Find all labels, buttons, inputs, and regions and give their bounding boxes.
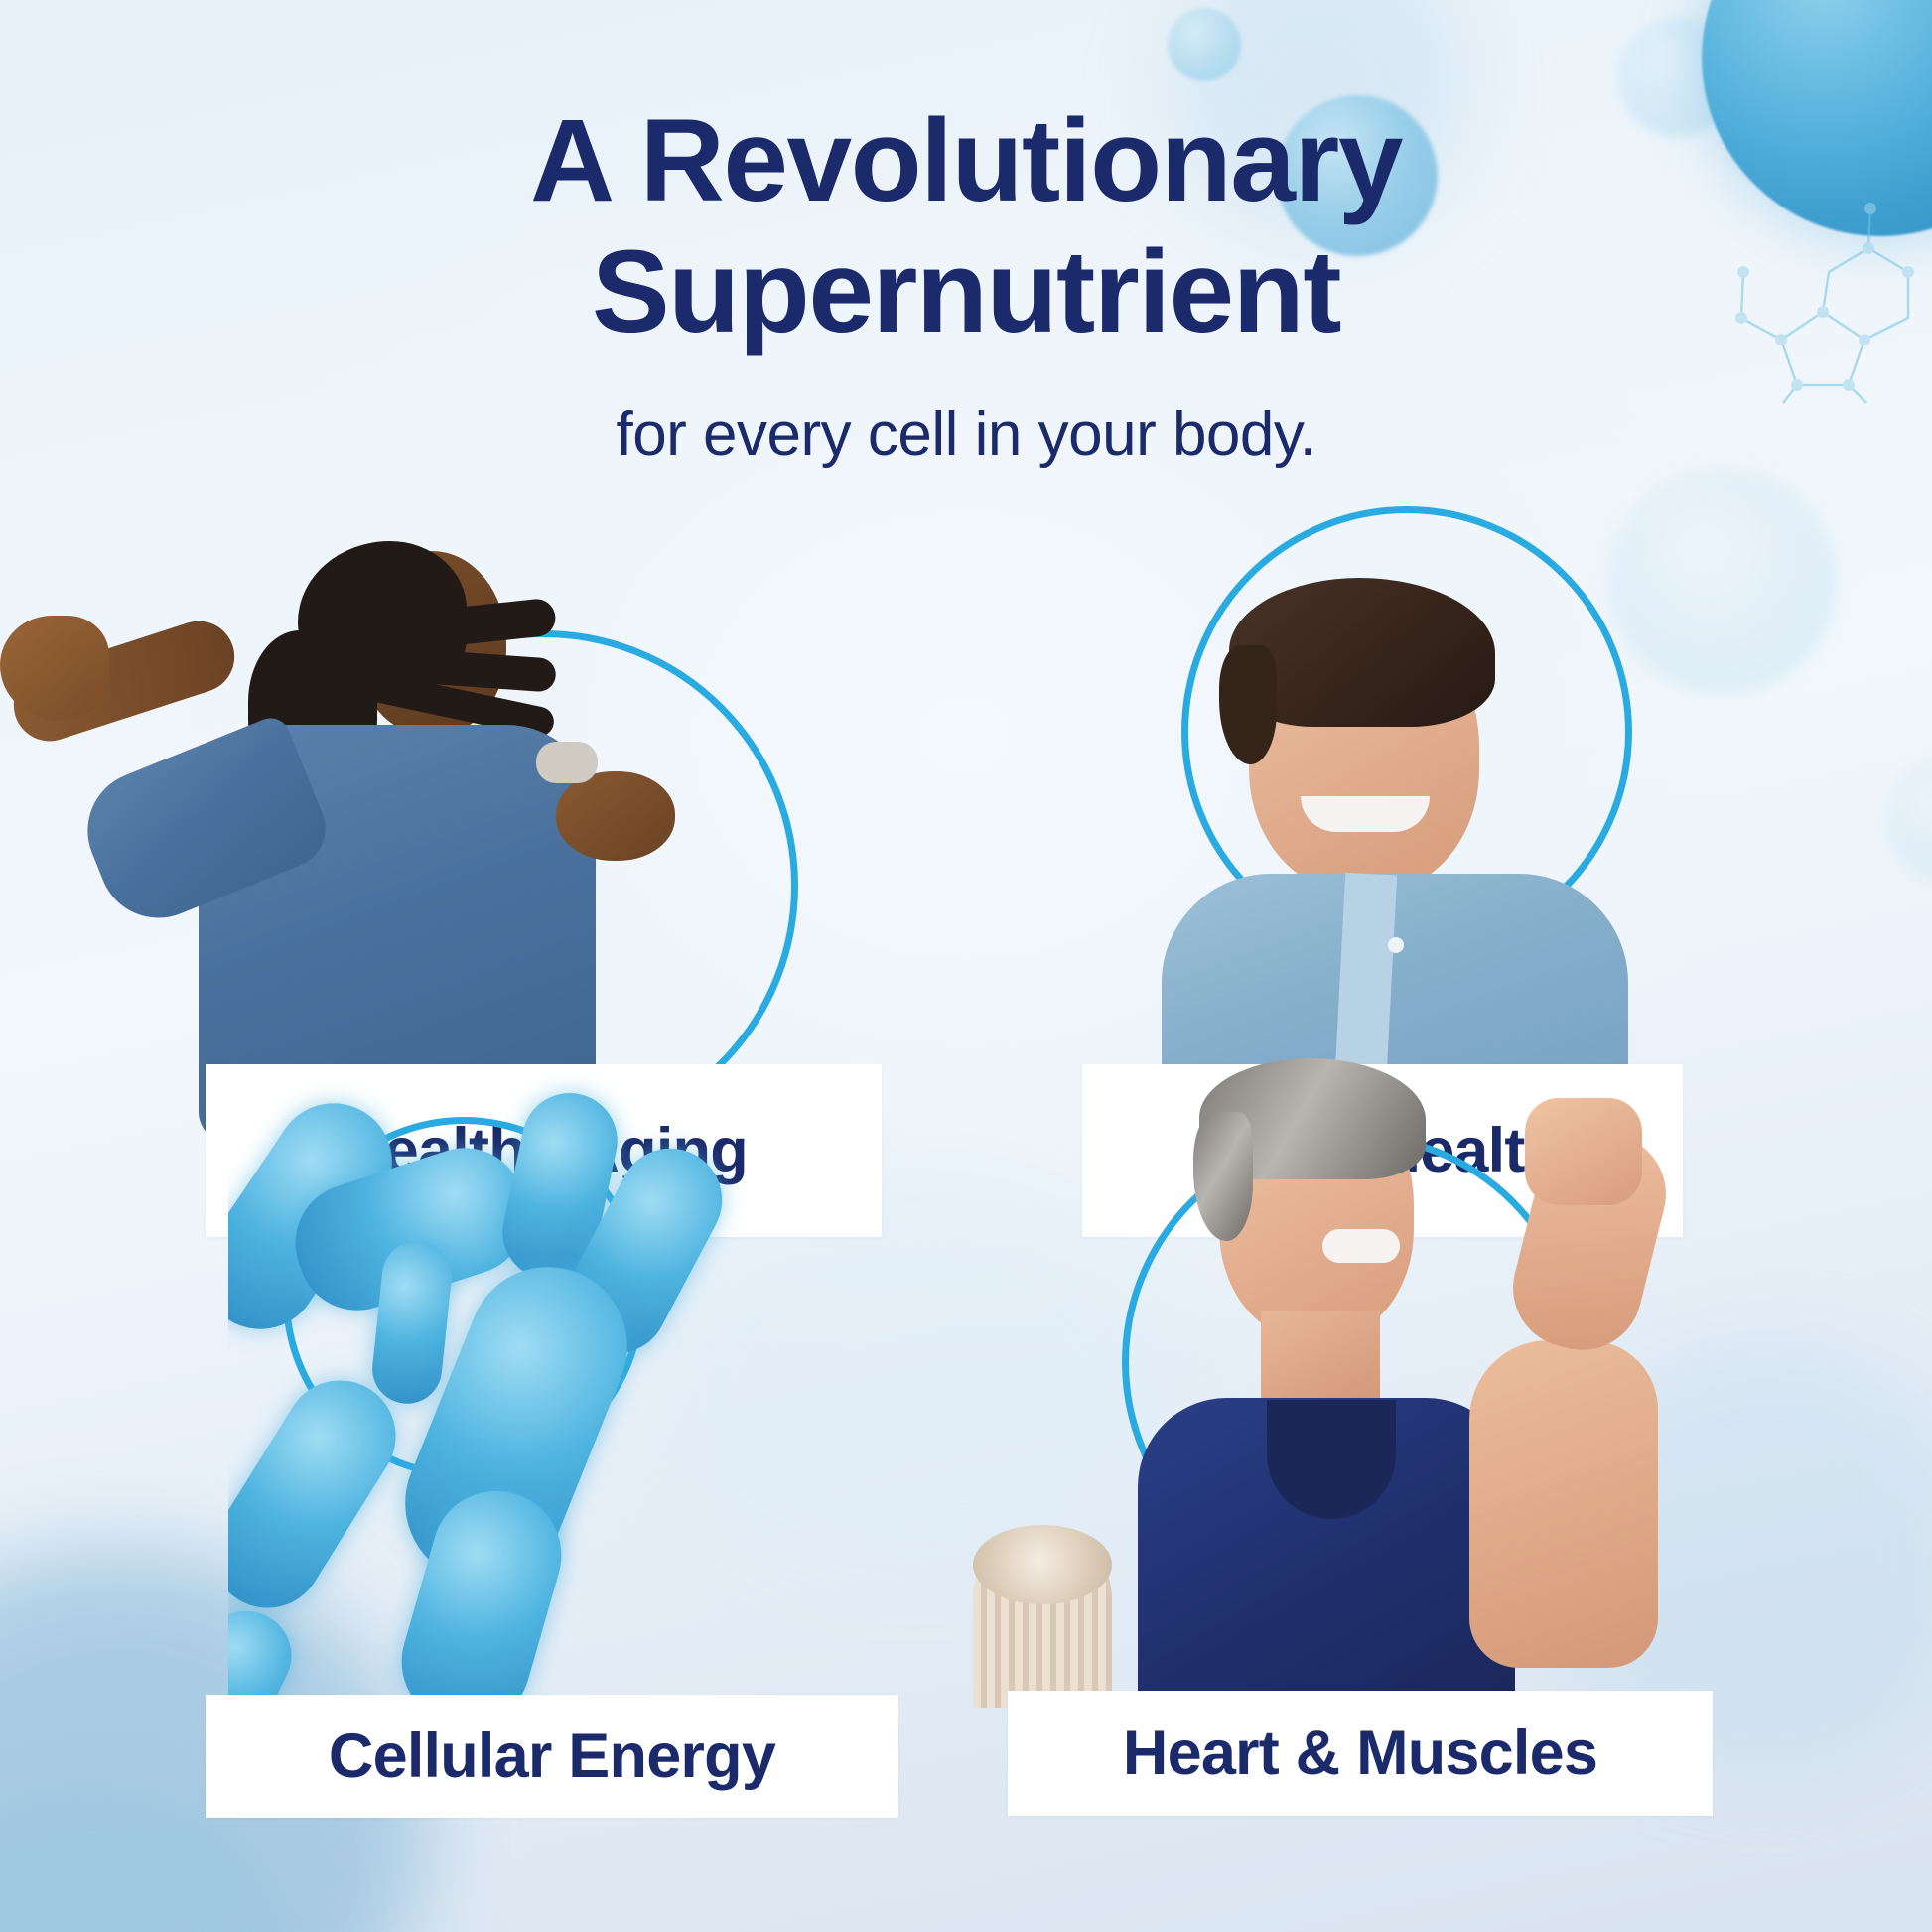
photo-heart-muscles	[973, 1013, 1668, 1708]
benefit-card-heart-muscles[interactable]: Heart & Muscles	[824, 1003, 1932, 1827]
headline-line-2: Supernutrient	[0, 226, 1932, 357]
card-label-cellular-energy: Cellular Energy	[329, 1721, 775, 1792]
card-label-band: Heart & Muscles	[1008, 1691, 1713, 1816]
page-subtitle: for every cell in your body.	[0, 401, 1932, 469]
photo-brain-health	[1102, 536, 1698, 1064]
page-title: A Revolutionary Supernutrient	[0, 95, 1932, 357]
photo-cellular-energy	[228, 1052, 745, 1708]
promo-graphic: A Revolutionary Supernutrient for every …	[0, 0, 1932, 1932]
card-label-heart-muscles: Heart & Muscles	[1123, 1718, 1597, 1789]
headline-line-1: A Revolutionary	[0, 95, 1932, 226]
card-label-band: Cellular Energy	[206, 1695, 898, 1818]
cell-sphere-icon	[1168, 8, 1241, 81]
